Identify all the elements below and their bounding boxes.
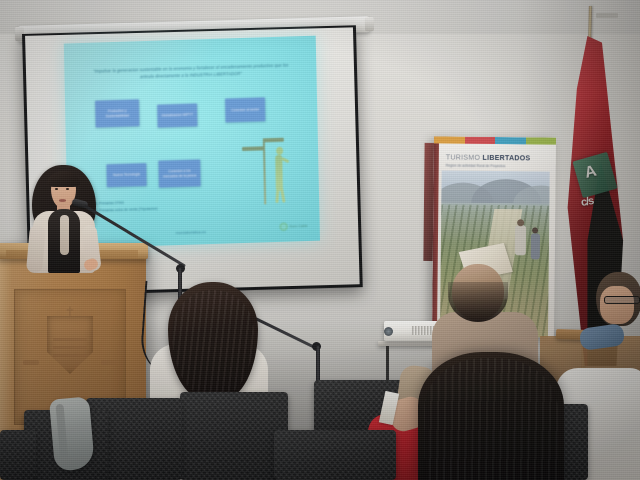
photo-vignette xyxy=(0,0,640,480)
conference-photo: "Impulsar la generacion sustentable en l… xyxy=(0,0,640,480)
